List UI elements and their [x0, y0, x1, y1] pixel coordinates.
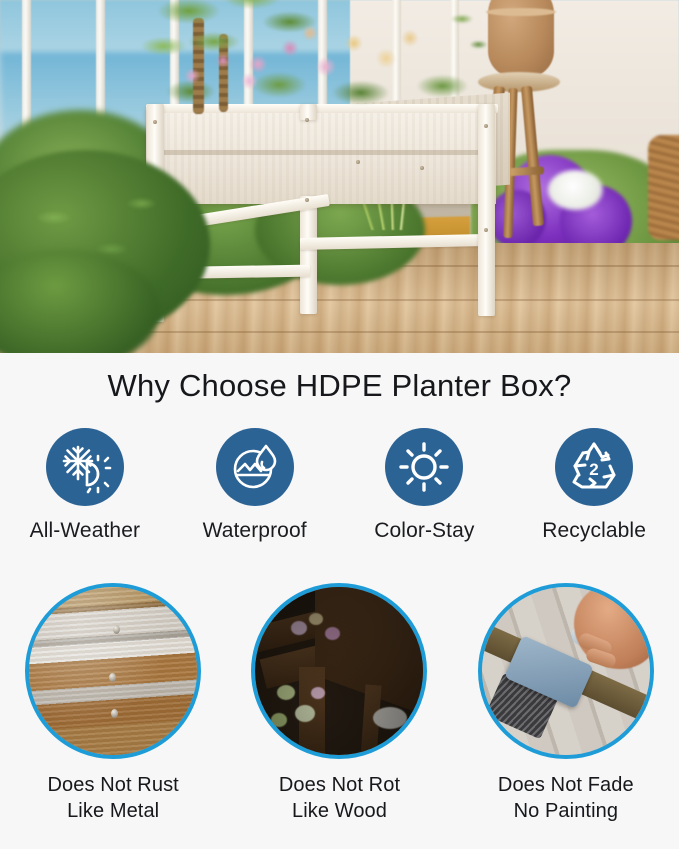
resin-code-number: 2: [589, 460, 598, 479]
feature-label: Waterproof: [203, 519, 307, 543]
woven-basket: [648, 135, 679, 240]
rusted-metal-panels-photo: [25, 583, 201, 759]
benefit-caption-line1: Does Not Rot: [279, 773, 400, 799]
feature-item-color-stay: Color-Stay: [340, 428, 510, 543]
feature-item-waterproof: Waterproof: [170, 428, 340, 543]
urn-rim: [486, 8, 556, 16]
feature-label: Recyclable: [542, 519, 646, 543]
page-title: Why Choose HDPE Planter Box?: [0, 368, 679, 404]
feature-item-recyclable: 2 Recyclable: [509, 428, 679, 543]
feature-label: Color-Stay: [374, 519, 474, 543]
benefit-caption-line2: No Painting: [498, 799, 634, 825]
benefit-caption-line1: Does Not Fade: [498, 773, 634, 799]
snowflake-sun-icon: [46, 428, 124, 506]
wooden-stool-seat: [478, 72, 560, 92]
benefit-caption: Does Not Rot Like Wood: [279, 773, 400, 824]
infographic-page: Why Choose HDPE Planter Box?: [0, 0, 679, 849]
feature-list: All-Weather Waterproof: [0, 428, 679, 543]
pink-and-peach-petunias: [222, 18, 422, 102]
white-flowers: [548, 170, 603, 210]
sun-rays-icon: [385, 428, 463, 506]
rotting-wood-planter-photo: [251, 583, 427, 759]
benefit-caption: Does Not Rust Like Metal: [47, 773, 178, 824]
benefit-caption-line2: Like Wood: [279, 799, 400, 825]
planter-leg: [478, 104, 495, 316]
hero-product-photo: [0, 0, 679, 353]
benefit-list: Does Not Rust Like Metal: [0, 583, 679, 824]
benefit-item-fade: Does Not Fade No Painting: [453, 583, 679, 824]
water-droplet-icon: [216, 428, 294, 506]
painting-faded-deck-photo: [478, 583, 654, 759]
feature-label: All-Weather: [30, 519, 140, 543]
recycle-2-icon: 2: [555, 428, 633, 506]
benefit-item-rust: Does Not Rust Like Metal: [0, 583, 226, 824]
benefit-caption-line2: Like Metal: [47, 799, 178, 825]
planter-panel-seam: [150, 150, 492, 155]
benefit-caption: Does Not Fade No Painting: [498, 773, 634, 824]
planter-leg: [300, 196, 317, 314]
benefit-item-rot: Does Not Rot Like Wood: [226, 583, 452, 824]
feature-item-all-weather: All-Weather: [0, 428, 170, 543]
benefit-caption-line1: Does Not Rust: [47, 773, 178, 799]
